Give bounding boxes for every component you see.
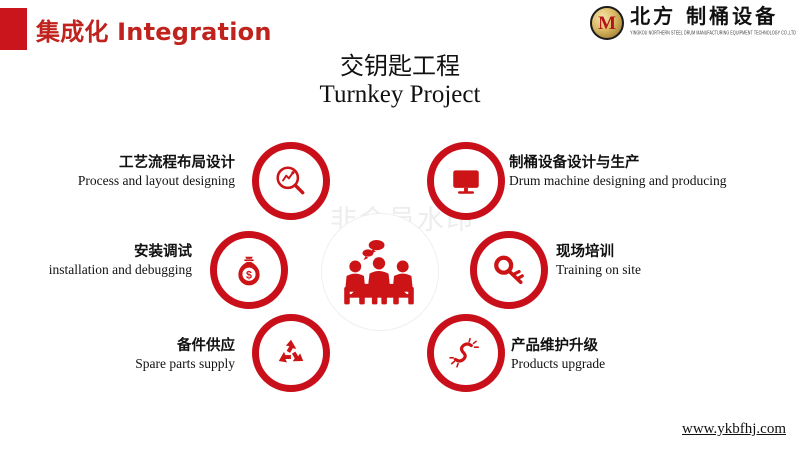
label-en: Products upgrade bbox=[511, 356, 605, 372]
node-training-on-site[interactable] bbox=[470, 231, 548, 309]
label-en: installation and debugging bbox=[49, 262, 192, 278]
recycle-icon bbox=[252, 314, 330, 392]
main-title: 交钥匙工程 Turnkey Project bbox=[0, 52, 800, 110]
page-title-cn: 集成化 bbox=[36, 18, 109, 46]
label-cn: 安装调试 bbox=[49, 244, 192, 262]
node-installation-debugging[interactable]: $ bbox=[210, 231, 288, 309]
label-cn: 产品维护升级 bbox=[511, 338, 605, 356]
node-process-layout[interactable] bbox=[252, 142, 330, 220]
footer-website-link[interactable]: www.ykbfhj.com bbox=[682, 421, 786, 438]
money-bag-icon: $ bbox=[210, 231, 288, 309]
main-title-en: Turnkey Project bbox=[0, 80, 800, 110]
label-cn: 备件供应 bbox=[135, 338, 235, 356]
key-icon bbox=[470, 231, 548, 309]
label-cn: 工艺流程布局设计 bbox=[78, 155, 235, 173]
label-process-layout: 工艺流程布局设计 Process and layout designing bbox=[78, 155, 235, 189]
label-drum-machine: 制桶设备设计与生产 Drum machine designing and pro… bbox=[509, 155, 726, 189]
label-en: Drum machine designing and producing bbox=[509, 173, 726, 189]
magnifier-chart-icon bbox=[252, 142, 330, 220]
node-drum-machine[interactable] bbox=[427, 142, 505, 220]
node-spare-parts[interactable] bbox=[252, 314, 330, 392]
logo-brand-en: YINGKOU NORTHERN STEEL DRUM MANUFACTURIN… bbox=[630, 30, 796, 36]
label-spare-parts: 备件供应 Spare parts supply bbox=[135, 338, 235, 372]
monitor-icon bbox=[427, 142, 505, 220]
header-accent-block bbox=[0, 8, 27, 50]
logo-badge-icon: M bbox=[590, 6, 624, 40]
label-en: Training on site bbox=[556, 262, 641, 278]
node-products-upgrade[interactable] bbox=[427, 314, 505, 392]
label-products-upgrade: 产品维护升级 Products upgrade bbox=[511, 338, 605, 372]
label-training-on-site: 现场培训 Training on site bbox=[556, 244, 641, 278]
svg-text:$: $ bbox=[246, 270, 252, 282]
wrench-repair-icon bbox=[427, 314, 505, 392]
label-cn: 制桶设备设计与生产 bbox=[509, 155, 726, 173]
label-installation-debugging: 安装调试 installation and debugging bbox=[49, 244, 192, 278]
label-cn: 现场培训 bbox=[556, 244, 641, 262]
logo-monogram: M bbox=[598, 14, 616, 33]
logo-brand-cn: 北方 制桶设备 bbox=[630, 4, 796, 28]
main-title-cn: 交钥匙工程 bbox=[0, 52, 800, 80]
page-title: 集成化 Integration bbox=[36, 12, 272, 47]
company-logo: M 北方 制桶设备 YINGKOU NORTHERN STEEL DRUM MA… bbox=[590, 4, 796, 44]
slide-canvas: 集成化 Integration M 北方 制桶设备 YINGKOU NORTHE… bbox=[0, 0, 800, 450]
label-en: Process and layout designing bbox=[78, 173, 235, 189]
page-title-en: Integration bbox=[117, 18, 271, 46]
label-en: Spare parts supply bbox=[135, 356, 235, 372]
meeting-people-icon bbox=[339, 238, 419, 306]
logo-text-group: 北方 制桶设备 YINGKOU NORTHERN STEEL DRUM MANU… bbox=[630, 4, 796, 34]
